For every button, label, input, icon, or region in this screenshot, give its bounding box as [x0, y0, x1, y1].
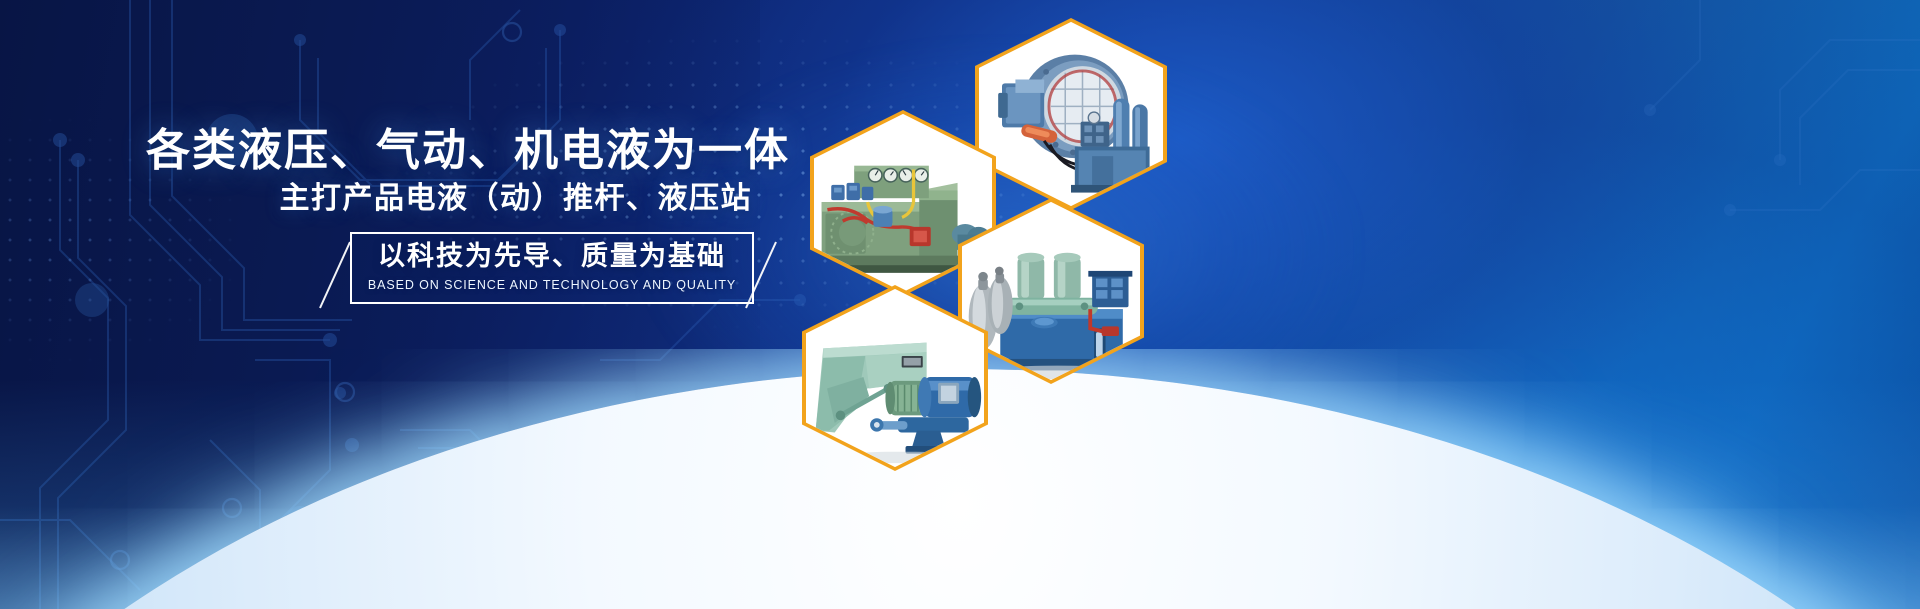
product-hexagon-cluster — [780, 0, 1200, 609]
banner-subline: 主打产品电液（动）推杆、液压站 — [0, 184, 752, 214]
slogan-chinese: 以科技为先导、质量为基础 — [350, 243, 754, 270]
circuit-board-pattern-right — [1500, 0, 1920, 300]
banner-text-block: 各类液压、气动、机电液为一体 主打产品电液（动）推杆、液压站 以科技为先导、质量… — [0, 0, 820, 609]
slogan-english: BASED ON SCIENCE AND TECHNOLOGY AND QUAL… — [350, 279, 754, 292]
butterfly-valve-photo — [979, 22, 1163, 206]
banner-headline: 各类液压、气动、机电液为一体 — [0, 129, 790, 173]
slash-left-icon — [318, 240, 352, 310]
hero-banner: 各类液压、气动、机电液为一体 主打产品电液（动）推杆、液压站 以科技为先导、质量… — [0, 0, 1920, 609]
electro-hydraulic-pushrod-photo — [806, 289, 984, 467]
hex-butterfly-valve[interactable] — [975, 18, 1167, 210]
